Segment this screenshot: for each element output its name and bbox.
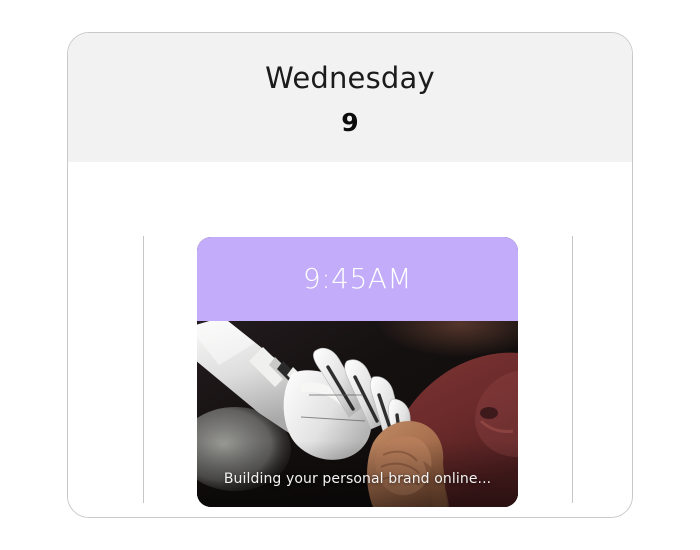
day-card-body: 9:45AM	[68, 162, 632, 517]
weekday-label: Wednesday	[265, 64, 435, 93]
event-time-label: 9:45AM	[303, 265, 412, 293]
timeline-rail-left	[143, 236, 144, 503]
screen-canvas: Wednesday 9 9:45AM	[0, 0, 700, 550]
day-card-header: Wednesday 9	[68, 33, 632, 162]
event-photo: Building your personal brand online...	[197, 321, 518, 507]
day-card: Wednesday 9 9:45AM	[67, 32, 633, 518]
event-card[interactable]: 9:45AM	[197, 237, 518, 507]
timeline-rail-right	[572, 236, 573, 503]
day-number-label: 9	[341, 110, 358, 135]
robot-hand-reaching-toward-human-hand-illustration	[197, 321, 518, 507]
event-time-banner: 9:45AM	[197, 237, 518, 321]
